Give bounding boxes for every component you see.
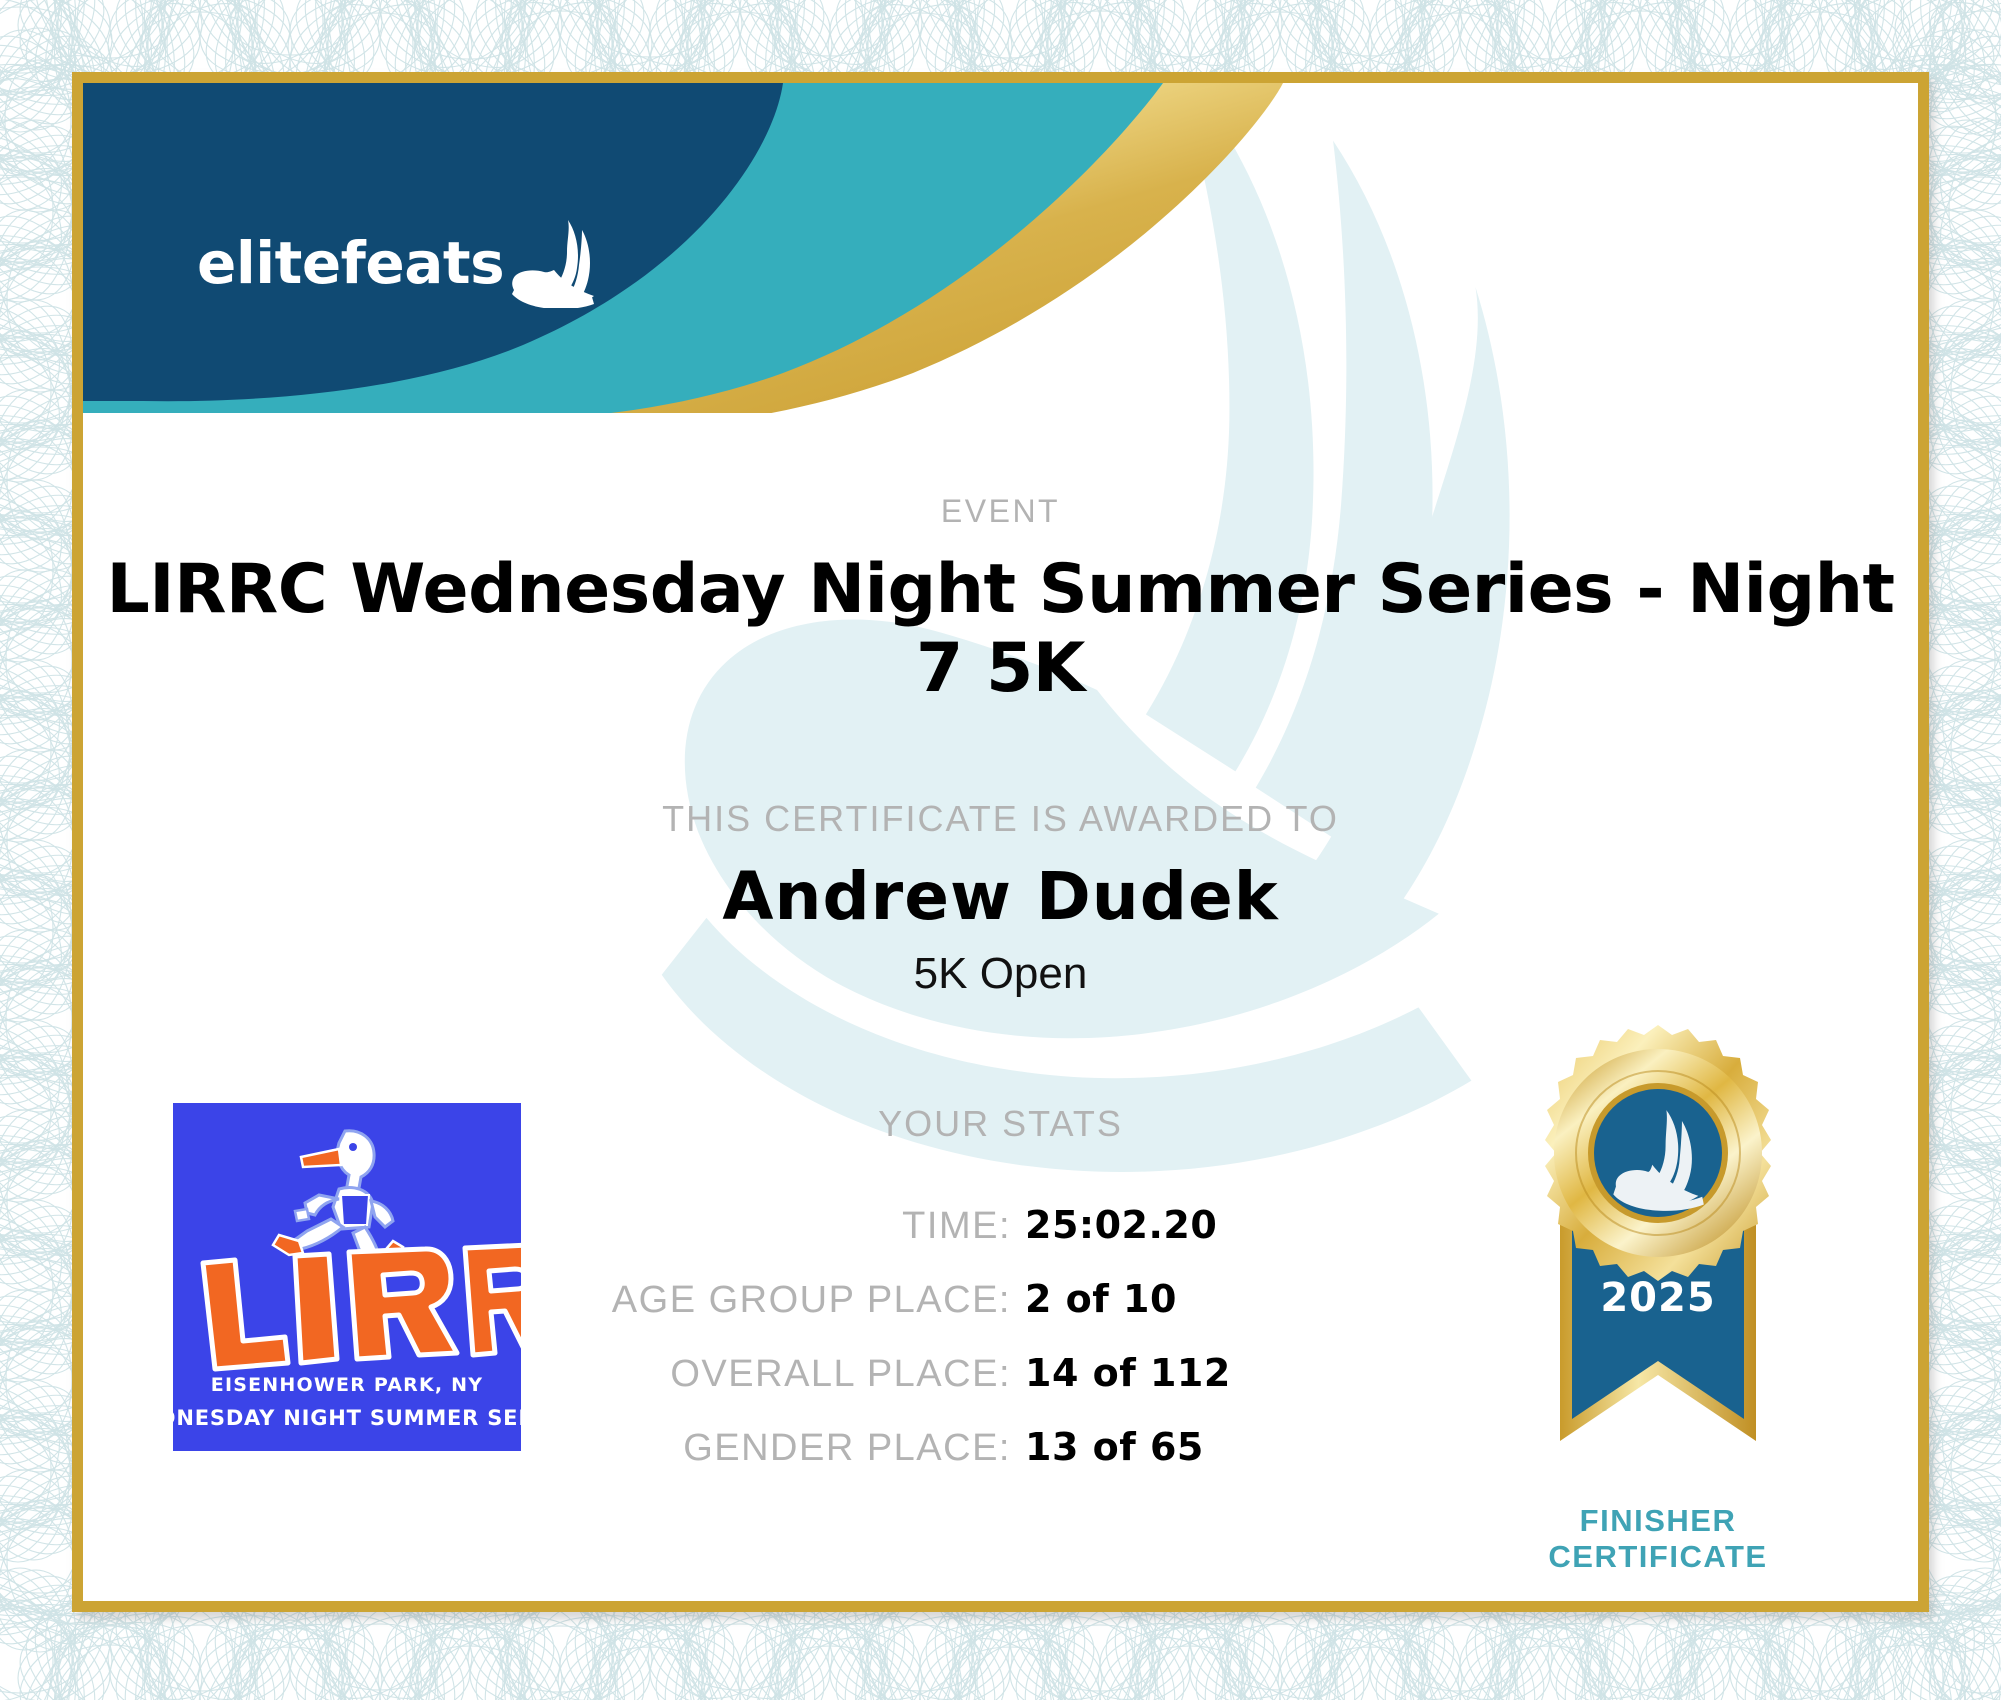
stat-value-age-group-place: 2 of 10: [1011, 1277, 1177, 1321]
awarded-to-label: THIS CERTIFICATE IS AWARDED TO: [83, 798, 1918, 840]
recipient-name: Andrew Dudek: [83, 858, 1918, 935]
division-label: 5K Open: [83, 949, 1918, 999]
medal-caption: FINISHER CERTIFICATE: [1473, 1503, 1843, 1575]
event-title: LIRRC Wednesday Night Summer Series - Ni…: [83, 550, 1918, 708]
club-location-text: EISENHOWER PARK, NY: [211, 1374, 483, 1396]
medal-caption-line1: FINISHER: [1473, 1503, 1843, 1539]
medal-caption-line2: CERTIFICATE: [1473, 1539, 1843, 1575]
lirrc-logo-graphic: EISENHOWER PARK, NY WEDNESDAY NIGHT SUMM…: [173, 1103, 521, 1451]
event-kicker-label: EVENT: [83, 493, 1918, 530]
certificate-page: elitefeats EVENT LIRRC Wednesday Night S…: [0, 0, 2001, 1700]
stat-value-gender-place: 13 of 65: [1011, 1425, 1204, 1469]
certificate-frame: elitefeats EVENT LIRRC Wednesday Night S…: [72, 72, 1929, 1612]
certificate-body: elitefeats EVENT LIRRC Wednesday Night S…: [83, 83, 1918, 1601]
medal-year-text: 2025: [1600, 1275, 1715, 1321]
stat-value-overall-place: 14 of 112: [1011, 1351, 1231, 1395]
finisher-medal-badge: 2025: [1508, 1023, 1808, 1493]
stat-value-time: 25:02.20: [1011, 1203, 1217, 1247]
lirrc-club-logo: EISENHOWER PARK, NY WEDNESDAY NIGHT SUMM…: [173, 1103, 521, 1451]
club-series-text: WEDNESDAY NIGHT SUMMER SERIES: [173, 1406, 521, 1430]
